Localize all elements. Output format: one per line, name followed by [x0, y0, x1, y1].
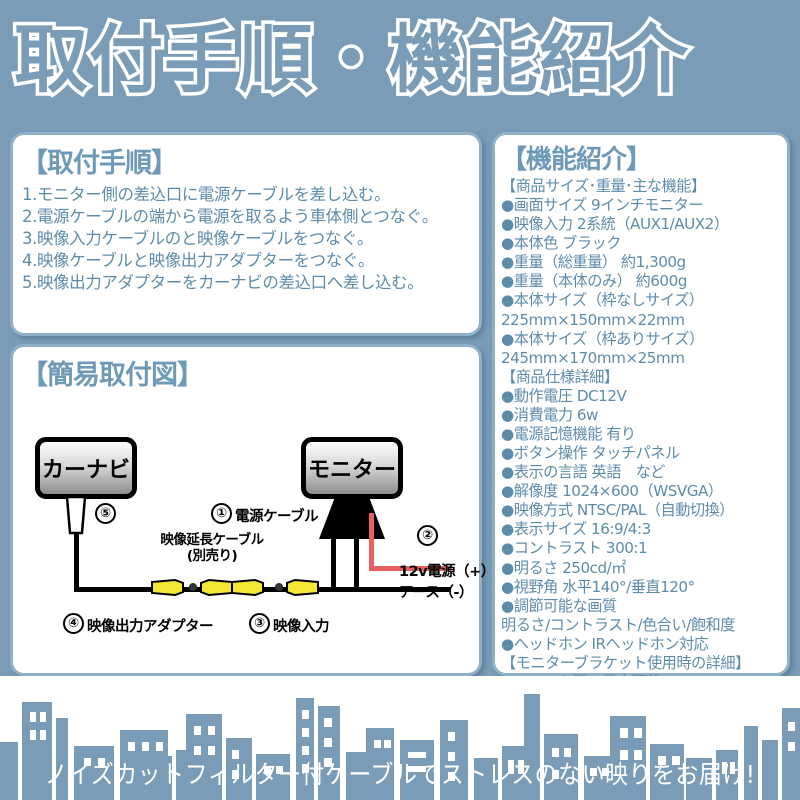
label-ground: アース（-） [399, 581, 473, 602]
footer-tagline: ノイズカットフィルター付ケーブルでストレスのない映りをお届け! [32, 755, 768, 791]
spec-line: ●画面サイズ 9インチモニター [501, 196, 787, 215]
spec-line: ●視野角 水平140°/垂直120° [501, 578, 787, 597]
label-video-output-adapter: 映像出力アダプター [87, 615, 213, 636]
navi-plug-icon [63, 497, 89, 535]
callout-5: ⑤ [95, 503, 116, 524]
spec-line: ●表示の言語 英語 など [501, 463, 787, 482]
wire-monitor-ground-drop [354, 537, 359, 592]
monitor-device: モニター [301, 437, 403, 499]
spec-line: ●重量（総重量） 約1,300g [501, 253, 787, 272]
spec-line: ●ボタン操作 タッチパネル [501, 444, 787, 463]
page-title-banner: 取付手順・機能紹介 [0, 0, 800, 120]
spec-line: 245mm×170mm×25mm [501, 349, 787, 368]
install-steps-heading: 【取付手順】 [21, 141, 479, 180]
wire-monitor-video-segment [319, 587, 359, 592]
spec-line: ●映像入力 2系統（AUX1/AUX2） [501, 215, 787, 234]
spec-line: ●調節可能な画質 [501, 597, 787, 616]
install-steps-panel: 【取付手順】 1.モニター側の差込口に電源ケーブルを差し込む。 2.電源ケーブル… [10, 132, 482, 336]
car-navigation-label: カーナビ [42, 452, 130, 484]
spec-line: 【商品サイズ･重量･主な機能】 [501, 177, 787, 196]
label-video-input: 映像入力 [273, 615, 329, 636]
rca-connector-video-in [285, 579, 319, 596]
spec-line: ●電源記憶機能 有り [501, 425, 787, 444]
spec-line: ●解像度 1024×600（WSVGA） [501, 482, 787, 501]
monitor-stand-icon [315, 497, 389, 541]
callout-2: ② [417, 525, 438, 546]
spec-line: ●ヘッドホン IRヘッドホン対応 [501, 635, 787, 654]
rca-connector-video-out [151, 579, 185, 596]
install-step-3: 3.映像入力ケーブルのと映像ケーブルをつなぐ。 [22, 228, 479, 250]
spec-line: ●コントラスト 300:1 [501, 539, 787, 558]
wiring-diagram: カーナビ モニター [13, 385, 485, 675]
rca-junction-dot-left [189, 583, 197, 591]
install-step-4: 4.映像ケーブルと映像出力アダプターをつなぐ。 [22, 250, 479, 272]
features-panel: 【機能紹介】 【商品サイズ･重量･主な機能】 ●画面サイズ 9インチモニター ●… [492, 132, 790, 676]
features-heading: 【機能紹介】 [501, 139, 787, 176]
spec-line: ●消費電力 6w [501, 406, 787, 425]
label-video-extension-cable-line1: 映像延長ケーブル [147, 533, 277, 549]
page-title: 取付手順・機能紹介 [14, 23, 689, 97]
install-step-2: 2.電源ケーブルの端から電源を取るよう車体側とつなぐ。 [22, 206, 479, 228]
spec-line: ●本体サイズ（枠なしサイズ） [501, 291, 787, 310]
wire-navi-vertical [74, 533, 79, 591]
spec-line: ●明るさ 250cd/㎡ [501, 559, 787, 578]
car-navigation-device: カーナビ [35, 437, 137, 499]
wiring-diagram-panel: 【簡易取付図】 カーナビ モニター [10, 344, 482, 676]
spec-line: ●重量（本体のみ） 約600g [501, 272, 787, 291]
install-step-5: 5.映像出力アダプターをカーナビの差込口へ差し込む。 [22, 272, 479, 294]
spec-line: 明るさ/コントラスト/色合い/飽和度 [501, 616, 787, 635]
spec-line: ●本体サイズ（枠ありサイズ） [501, 330, 787, 349]
callout-4: ④ [63, 613, 84, 634]
spec-line: 【商品仕様詳細】 [501, 368, 787, 387]
spec-line: 225mm×150mm×22mm [501, 311, 787, 330]
rca-connector-extension-left [199, 579, 233, 596]
wire-12v-vertical [369, 513, 374, 571]
spec-line: ●本体色 ブラック [501, 234, 787, 253]
spec-line: ●表示サイズ 16:9/4:3 [501, 520, 787, 539]
wire-monitor-video-drop [331, 537, 336, 592]
callout-3: ③ [249, 613, 270, 634]
label-power-cable: 電源ケーブル [235, 505, 318, 526]
monitor-label: モニター [308, 452, 396, 484]
wire-navi-horizontal [74, 587, 154, 592]
rca-connector-extension-right [231, 579, 265, 596]
features-list: 【商品サイズ･重量･主な機能】 ●画面サイズ 9インチモニター ●映像入力 2系… [501, 177, 787, 749]
spec-line: ●映像方式 NTSC/PAL（自動切換） [501, 501, 787, 520]
callout-1: ① [211, 503, 232, 524]
label-video-extension-cable-line2: (別売り) [147, 549, 277, 565]
spec-line: 【モニターブラケット使用時の詳細】 [501, 654, 787, 673]
install-step-1: 1.モニター側の差込口に電源ケーブルを差し込む。 [22, 184, 479, 206]
rca-junction-dot-right [275, 583, 283, 591]
label-12v-power: 12v電源（+） [399, 560, 495, 581]
spec-line: ●動作電圧 DC12V [501, 387, 787, 406]
